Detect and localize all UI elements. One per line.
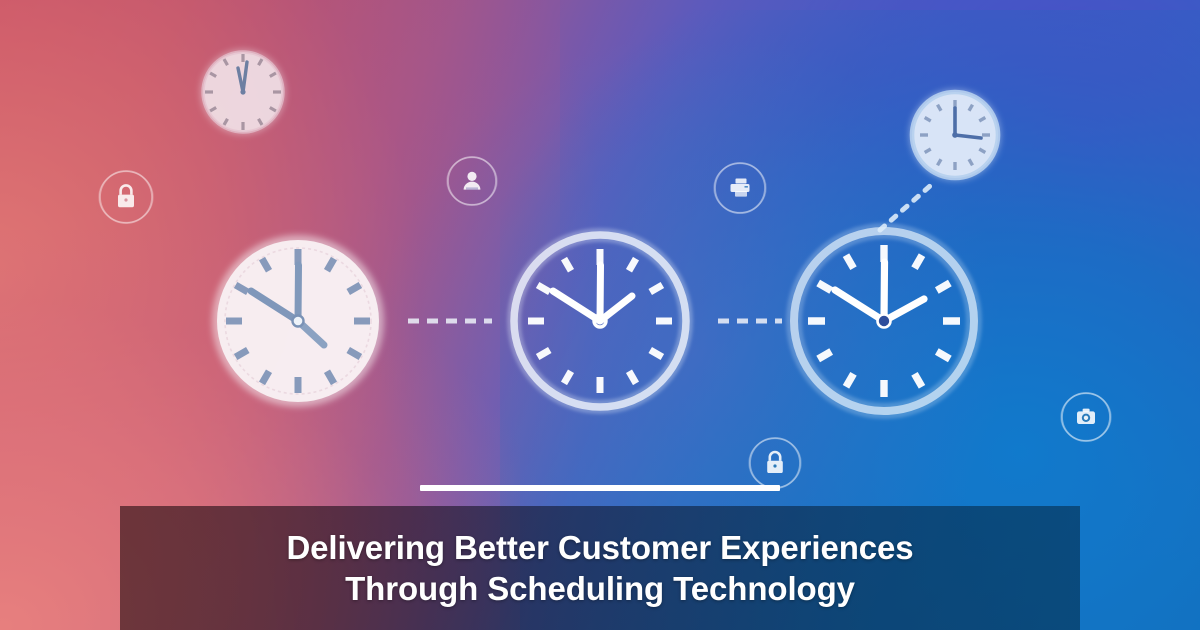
clock-main-center: [514, 235, 686, 407]
title-divider-rule: [420, 485, 780, 491]
headline-line-2: Through Scheduling Technology: [345, 569, 855, 610]
badge-lock-bottom: [749, 438, 801, 488]
padlock-icon: [767, 452, 783, 473]
headline-line-1: Delivering Better Customer Experiences: [286, 528, 913, 569]
user-icon: [464, 172, 481, 190]
printer-icon: [731, 179, 750, 197]
banner-canvas: Delivering Better Customer Experiences T…: [0, 0, 1200, 630]
title-banner: Delivering Better Customer Experiences T…: [120, 506, 1080, 630]
badge-user: [447, 157, 497, 205]
clock-main-left: [212, 235, 384, 407]
padlock-icon: [118, 185, 134, 207]
clock-small-top-left: [200, 49, 286, 135]
camera-icon: [1077, 409, 1095, 424]
clock-small-top-right: [909, 89, 1001, 181]
badge-printer: [714, 163, 766, 213]
badge-camera: [1061, 393, 1111, 441]
badge-lock-left: [99, 171, 153, 223]
clock-main-right: [794, 231, 974, 411]
